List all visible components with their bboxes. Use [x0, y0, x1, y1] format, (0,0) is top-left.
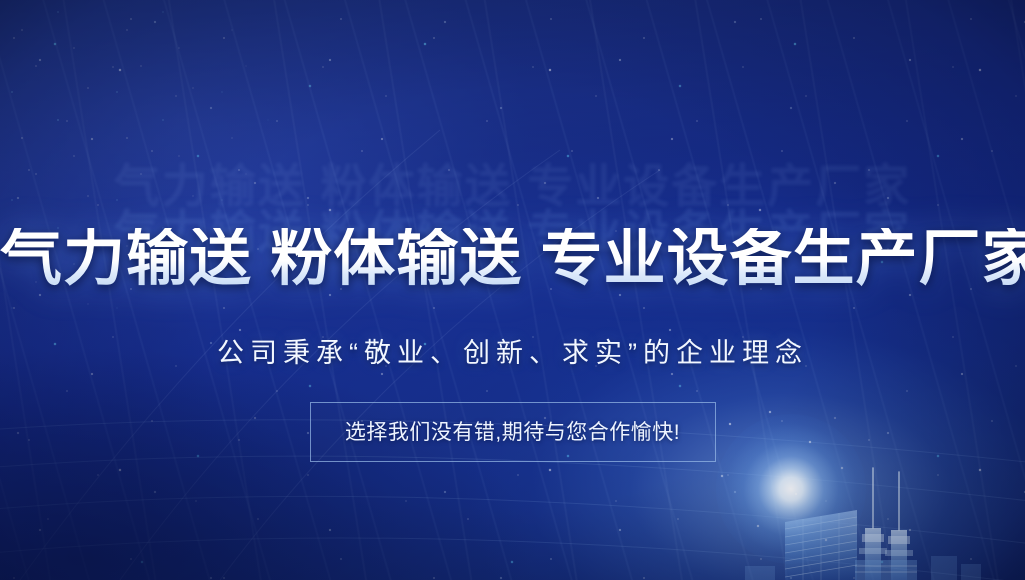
banner-headline: 气力输送 粉体输送 专业设备生产厂家 — [0, 228, 1025, 290]
vignette-overlay — [0, 0, 1025, 580]
glow-sparkles — [700, 398, 890, 580]
top-shadow-overlay — [0, 0, 1025, 230]
banner-subtitle: 公司秉承“敬业、创新、求实”的企业理念 — [0, 340, 1025, 367]
cta-slogan-text: 选择我们没有错,期待与您合作愉快! — [345, 422, 680, 443]
particle-cluster-left — [0, 0, 330, 330]
light-glow-orb — [716, 414, 866, 564]
diagonal-light-streaks — [0, 0, 1025, 580]
cta-slogan-box[interactable]: 选择我们没有错,期待与您合作愉快! — [310, 402, 716, 462]
starfield-cyan-accents — [0, 0, 1025, 580]
starfield-medium — [0, 0, 1025, 580]
starfield-small — [0, 0, 1025, 580]
ghost-headline-echo-1: 气力输送 粉体输送 专业设备生产厂家 — [0, 150, 1025, 216]
ghost-headline-echo-2: 气力输送 粉体输送 专业设备生产厂家 — [0, 196, 1025, 262]
banner-content: 气力输送 粉体输送 专业设备生产厂家 公司秉承“敬业、创新、求实”的企业理念 选… — [0, 0, 1025, 580]
diagonal-light-streaks-secondary — [0, 0, 1025, 580]
curved-orbit-lines-icon — [0, 0, 1025, 580]
starfield-large — [0, 0, 1025, 580]
city-skyline-icon — [745, 430, 1025, 580]
hero-banner: 气力输送 粉体输送 专业设备生产厂家 气力输送 粉体输送 专业设备生产厂家 气力… — [0, 0, 1025, 580]
